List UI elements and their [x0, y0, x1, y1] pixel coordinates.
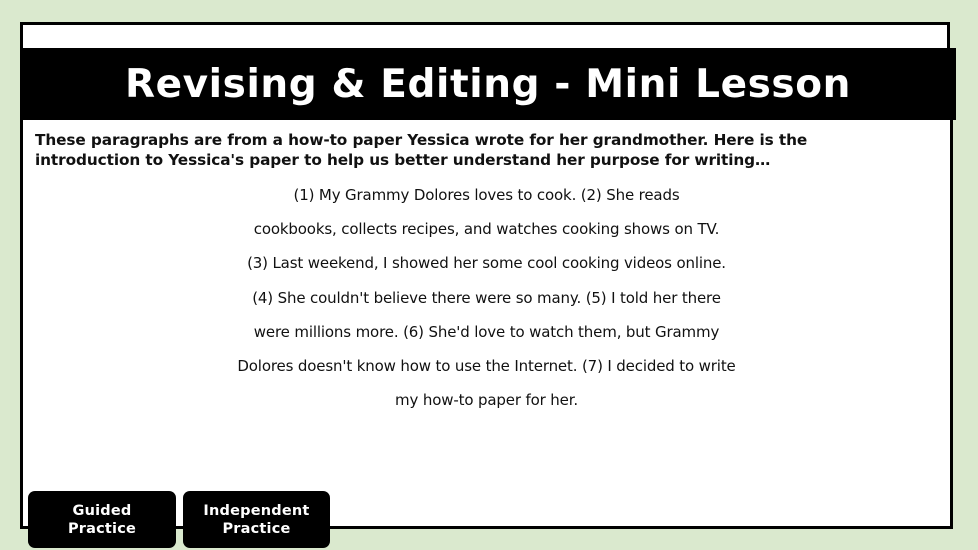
passage-line: cookbooks, collects recipes, and watches… — [23, 212, 950, 246]
passage-line: were millions more. (6) She'd love to wa… — [23, 315, 950, 349]
passage-line: Dolores doesn't know how to use the Inte… — [23, 349, 950, 383]
intro-paragraph: These paragraphs are from a how-to paper… — [35, 130, 825, 170]
page-title: Revising & Editing - Mini Lesson — [125, 65, 851, 104]
independent-practice-button[interactable]: Independent Practice — [183, 491, 330, 548]
passage-line: my how-to paper for her. — [23, 383, 950, 417]
guided-practice-label-line2: Practice — [68, 520, 136, 538]
guided-practice-label-line1: Guided — [68, 502, 136, 520]
title-banner: Revising & Editing - Mini Lesson — [20, 48, 956, 120]
guided-practice-button[interactable]: Guided Practice — [28, 491, 176, 548]
passage-block: (1) My Grammy Dolores loves to cook. (2)… — [23, 178, 950, 417]
title-top-strip — [20, 22, 950, 49]
independent-practice-label-line1: Independent — [203, 502, 309, 520]
passage-line: (4) She couldn't believe there were so m… — [23, 281, 950, 315]
passage-line: (3) Last weekend, I showed her some cool… — [23, 246, 950, 280]
slide-canvas: Revising & Editing - Mini Lesson These p… — [0, 0, 978, 550]
content-panel: These paragraphs are from a how-to paper… — [20, 120, 953, 529]
independent-practice-label-line2: Practice — [203, 520, 309, 538]
passage-line: (1) My Grammy Dolores loves to cook. (2)… — [23, 178, 950, 212]
